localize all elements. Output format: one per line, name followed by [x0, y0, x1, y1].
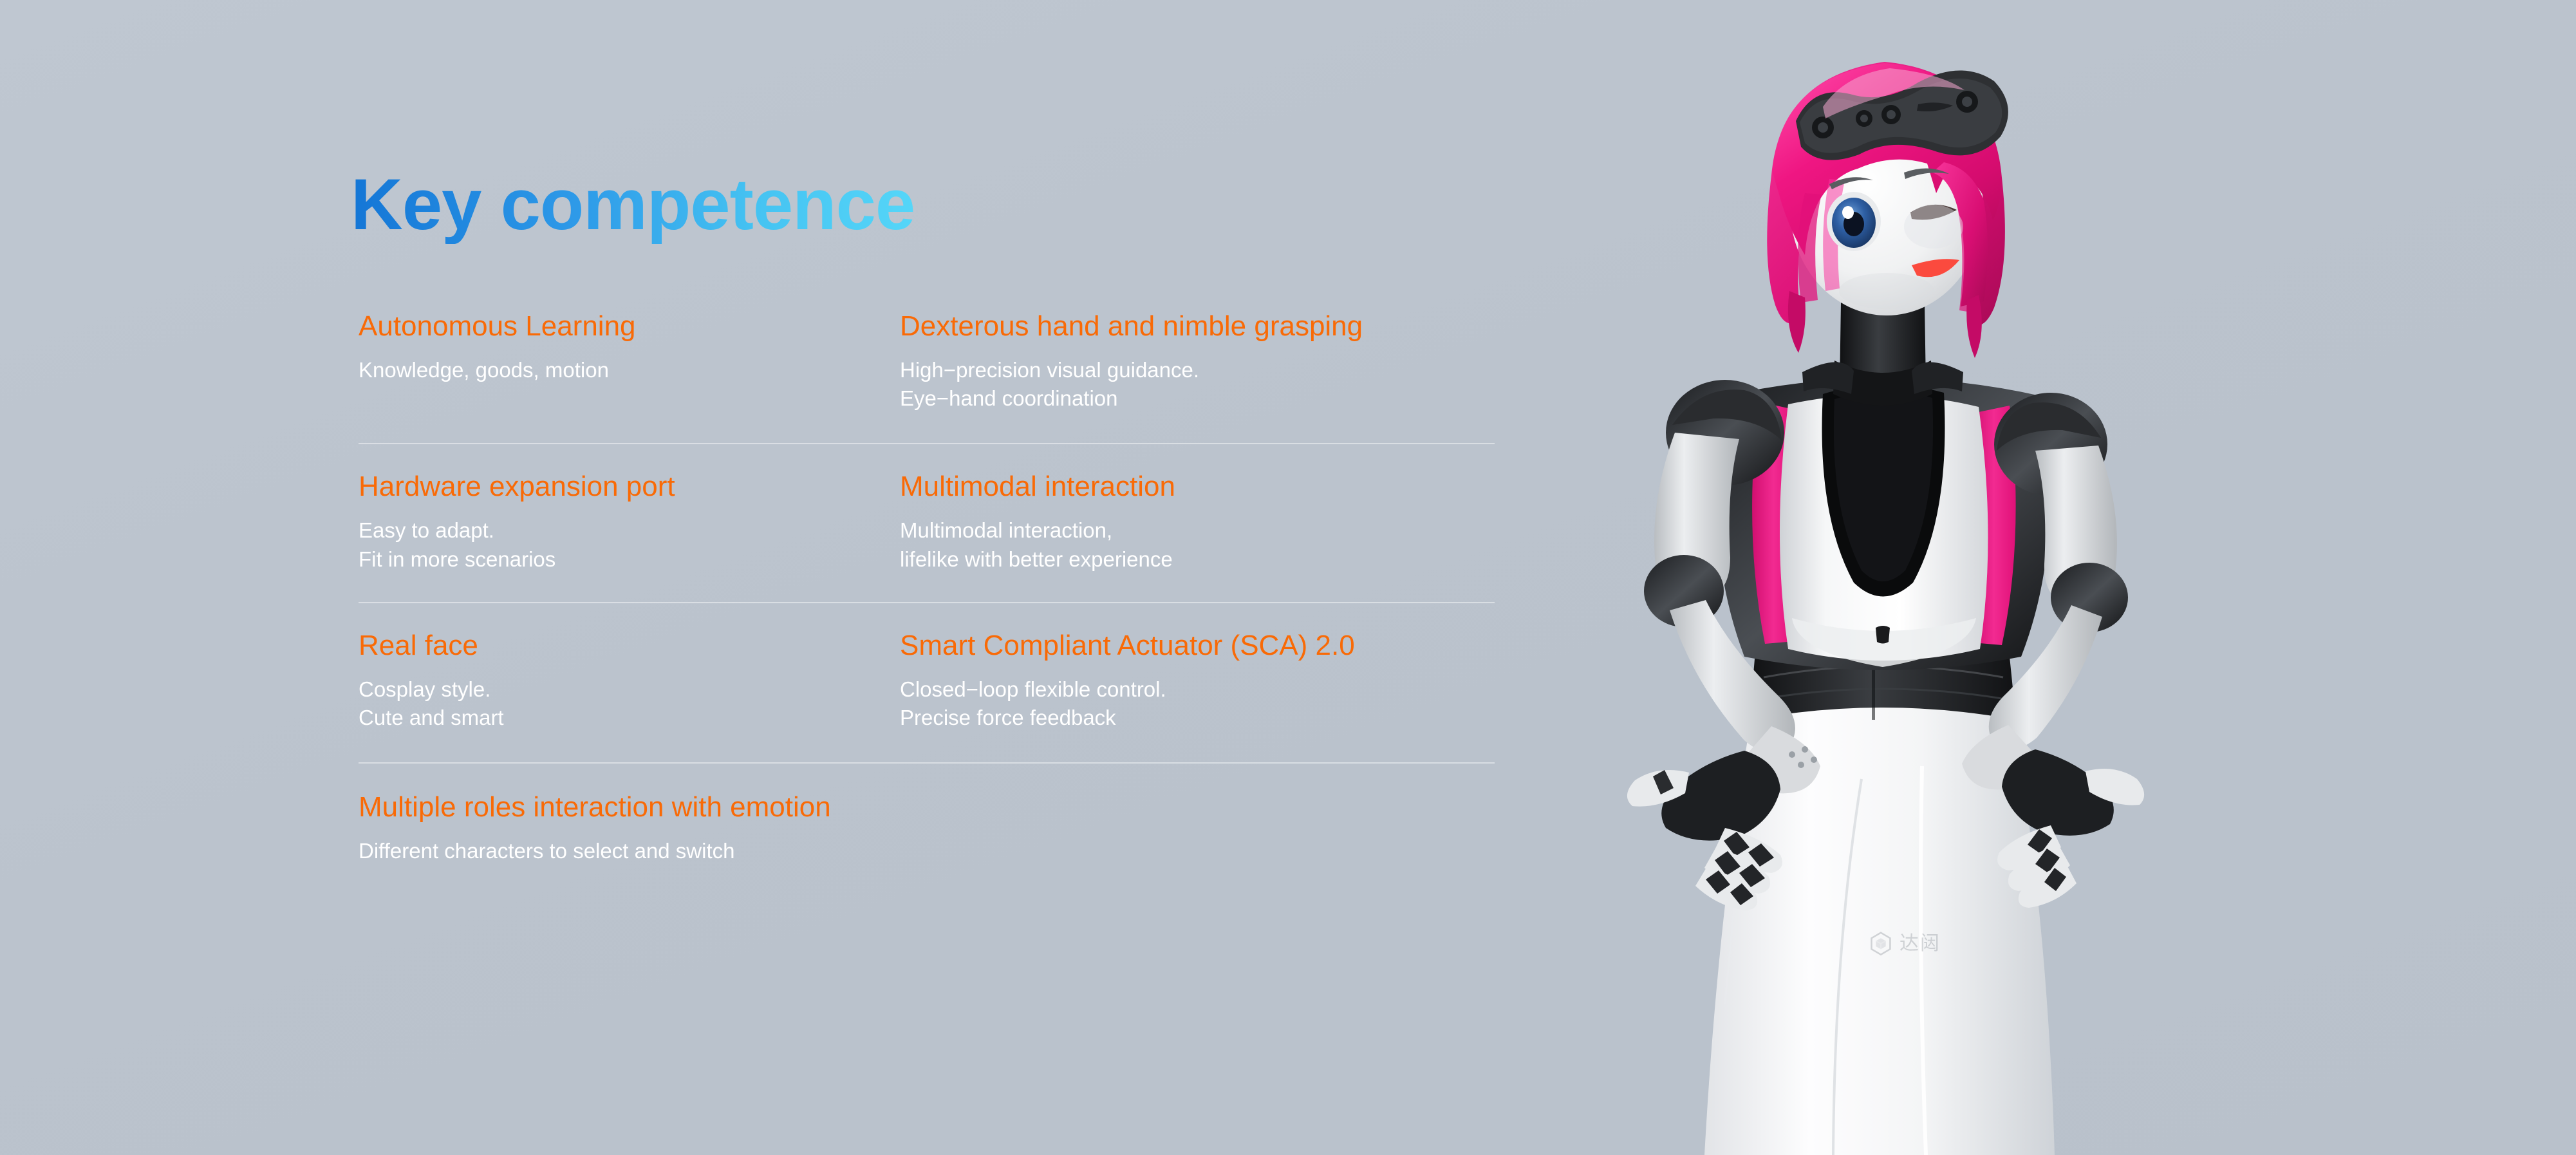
feature-title: Hardware expansion port	[359, 473, 900, 501]
feature-row: Autonomous Learning Knowledge, goods, mo…	[359, 312, 1495, 443]
feature-description: Multimodal interaction, lifelike with be…	[900, 516, 1495, 573]
feature-description: High−precision visual guidance. Eye−hand…	[900, 356, 1495, 413]
feature-item-smart-compliant-actuator[interactable]: Smart Compliant Actuator (SCA) 2.0 Close…	[900, 632, 1495, 732]
feature-title: Multiple roles interaction with emotion	[359, 793, 1495, 822]
feature-title: Multimodal interaction	[900, 473, 1495, 501]
feature-title: Dexterous hand and nimble grasping	[900, 312, 1495, 341]
feature-description: Closed−loop flexible control. Precise fo…	[900, 675, 1495, 732]
feature-row: Real face Cosplay style. Cute and smart …	[359, 602, 1495, 762]
key-competence-feature-list: Autonomous Learning Knowledge, goods, mo…	[359, 312, 1495, 866]
feature-row: Multiple roles interaction with emotion …	[359, 762, 1495, 865]
feature-description: Knowledge, goods, motion	[359, 356, 900, 384]
feature-title: Autonomous Learning	[359, 312, 900, 341]
feature-item-autonomous-learning[interactable]: Autonomous Learning Knowledge, goods, mo…	[359, 312, 900, 413]
feature-item-multiple-roles-interaction[interactable]: Multiple roles interaction with emotion …	[359, 793, 1495, 865]
feature-description: Different characters to select and switc…	[359, 837, 1495, 865]
feature-title: Smart Compliant Actuator (SCA) 2.0	[900, 632, 1495, 660]
feature-item-hardware-expansion-port[interactable]: Hardware expansion port Easy to adapt. F…	[359, 473, 900, 573]
feature-title: Real face	[359, 632, 900, 660]
brand-wordmark: 达闼	[1899, 934, 1941, 953]
feature-item-real-face[interactable]: Real face Cosplay style. Cute and smart	[359, 632, 900, 732]
page-title: Key competence	[351, 166, 915, 244]
cube-hexagon-icon	[1870, 932, 1892, 956]
slide-canvas: Key competence Autonomous Learning Knowl…	[0, 0, 2576, 1155]
feature-description: Cosplay style. Cute and smart	[359, 675, 900, 732]
robot-illustration	[1532, 0, 2240, 1155]
feature-item-dexterous-hand[interactable]: Dexterous hand and nimble grasping High−…	[900, 312, 1495, 413]
feature-description: Easy to adapt. Fit in more scenarios	[359, 516, 900, 573]
feature-item-multimodal-interaction[interactable]: Multimodal interaction Multimodal intera…	[900, 473, 1495, 573]
feature-row: Hardware expansion port Easy to adapt. F…	[359, 443, 1495, 601]
robot-brand-logo: 达闼	[1870, 932, 1941, 956]
